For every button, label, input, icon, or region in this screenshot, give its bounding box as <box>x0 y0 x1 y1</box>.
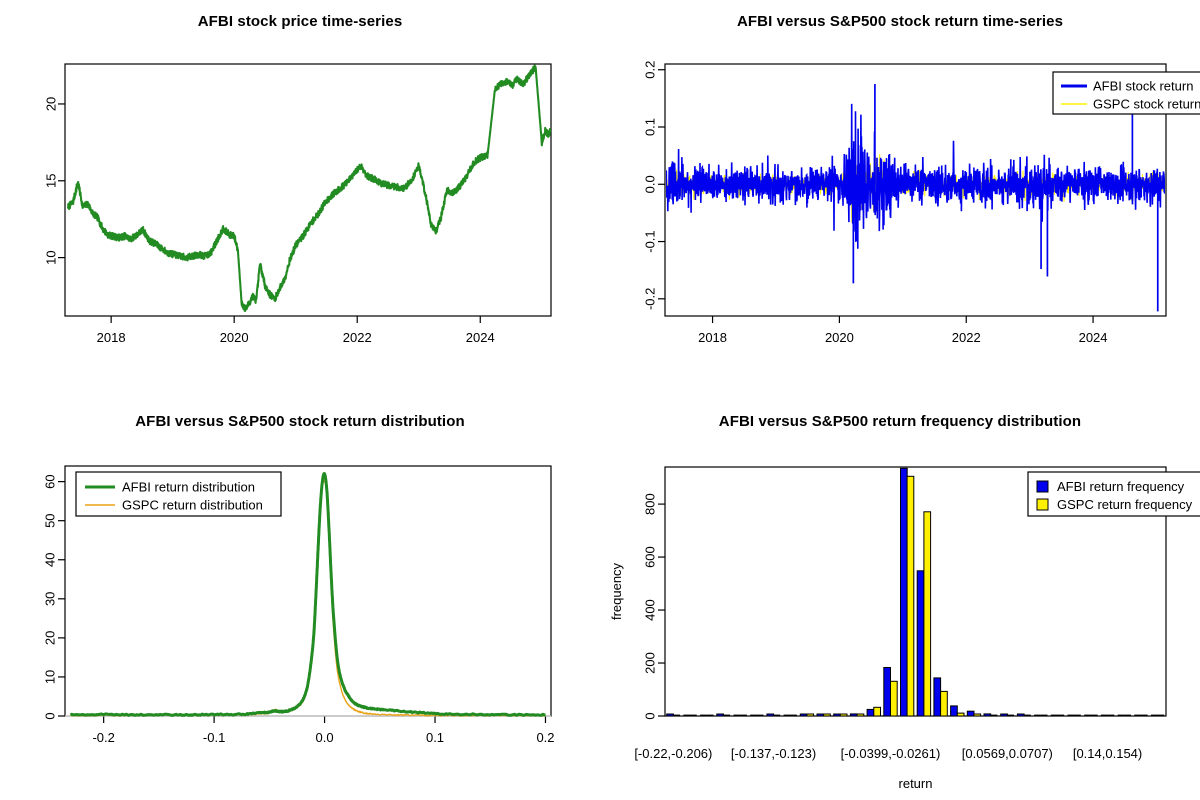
x-tick-label: [0.0569,0.0707) <box>962 746 1053 761</box>
y-tick-label: 0.0 <box>642 175 657 193</box>
x-tick-label: 2018 <box>698 330 727 345</box>
panel3-plot: 0102030405060-0.2-0.10.00.10.2AFBI retur… <box>0 400 600 800</box>
y-axis-label: frequency <box>609 562 624 620</box>
y-tick-label: 20 <box>42 631 57 645</box>
y-tick-label: 50 <box>42 513 57 527</box>
legend-label: AFBI return distribution <box>122 480 255 495</box>
legend-label: AFBI stock return <box>1093 79 1193 94</box>
y-tick-label: 40 <box>42 553 57 567</box>
gspc-bar <box>807 714 814 716</box>
x-tick-label: -0.2 <box>92 730 114 745</box>
x-tick-label: 2022 <box>952 330 981 345</box>
afbi-bar <box>717 714 724 716</box>
gspc-bar <box>1141 715 1148 716</box>
y-tick-label: 0 <box>42 712 57 719</box>
afbi-bar <box>784 715 791 716</box>
gspc-bar <box>774 715 781 716</box>
afbi-bar <box>1101 715 1108 716</box>
gspc-bar <box>740 715 747 716</box>
afbi-bar <box>1051 715 1058 716</box>
x-tick-label: -0.1 <box>203 730 225 745</box>
panel4-plot: 0200400600800frequencyreturn[-0.22,-0.20… <box>600 400 1200 800</box>
y-tick-label: 0 <box>642 712 657 719</box>
panel-return-distribution: AFBI versus S&P500 stock return distribu… <box>0 400 600 800</box>
gspc-bar <box>857 714 864 716</box>
gspc-bar <box>707 715 714 716</box>
panel-return-frequency: AFBI versus S&P500 return frequency dist… <box>600 400 1200 800</box>
x-tick-label: 2020 <box>825 330 854 345</box>
gspc-bar <box>1124 715 1131 716</box>
panel1-plot: 1015202018202020222024 <box>0 0 600 400</box>
afbi-bar <box>984 714 991 716</box>
gspc-bar <box>991 715 998 716</box>
afbi-bar <box>934 678 941 716</box>
y-tick-label: 0.2 <box>642 61 657 79</box>
x-tick-label: [-0.0399,-0.0261) <box>841 746 941 761</box>
gspc-bar <box>941 691 948 716</box>
afbi-bar <box>884 668 891 717</box>
y-tick-label: -0.2 <box>642 288 657 310</box>
legend-label: GSPC return frequency <box>1057 497 1193 512</box>
x-tick-label: 2020 <box>220 330 249 345</box>
y-tick-label: 15 <box>43 174 58 188</box>
figure-grid: AFBI stock price time-series 10152020182… <box>0 0 1200 800</box>
x-tick-label: [-0.22,-0.206) <box>634 746 712 761</box>
gspc-bar <box>924 512 931 716</box>
gspc-bar <box>673 715 680 716</box>
x-tick-label: 2018 <box>97 330 126 345</box>
y-tick-label: 10 <box>43 250 58 264</box>
y-tick-label: 0.1 <box>642 118 657 136</box>
afbi-bar <box>951 706 958 716</box>
y-tick-label: 30 <box>42 592 57 606</box>
afbi-bar <box>734 715 741 716</box>
gspc-bar <box>757 715 764 716</box>
gspc-bar <box>1074 715 1081 716</box>
gspc-bar <box>1024 715 1031 716</box>
legend-label: AFBI return frequency <box>1057 479 1185 494</box>
afbi-bar <box>1084 715 1091 716</box>
panel4-axes: 0200400600800frequencyreturn[-0.22,-0.20… <box>609 493 1142 791</box>
x-tick-label: 2024 <box>466 330 495 345</box>
afbi-bar <box>834 714 841 716</box>
panel-stock-price: AFBI stock price time-series 10152020182… <box>0 0 600 400</box>
legend-swatch <box>1037 499 1048 510</box>
gspc-bar <box>824 714 831 716</box>
y-tick-label: 800 <box>642 493 657 515</box>
afbi-bar <box>750 715 757 716</box>
gspc-bar <box>723 715 730 716</box>
y-tick-label: 200 <box>642 652 657 674</box>
y-tick-label: 20 <box>43 97 58 111</box>
x-tick-label: 0.0 <box>316 730 334 745</box>
afbi-bar <box>1001 714 1008 716</box>
x-tick-label: [-0.137,-0.123) <box>731 746 816 761</box>
afbi-bar <box>1017 714 1024 716</box>
afbi-bar <box>700 715 707 716</box>
y-tick-label: -0.1 <box>642 230 657 252</box>
afbi-bar <box>800 714 807 716</box>
afbi-bar <box>817 714 824 716</box>
afbi-bar <box>1118 715 1125 716</box>
afbi-bar <box>683 715 690 716</box>
afbi-bar <box>850 714 857 716</box>
gspc-bar <box>974 714 981 716</box>
gspc-bar <box>840 714 847 716</box>
gspc-bar <box>790 715 797 716</box>
gspc-bar <box>891 681 898 716</box>
gspc-bar <box>874 707 881 716</box>
y-tick-label: 10 <box>42 670 57 684</box>
x-tick-label: 0.1 <box>426 730 444 745</box>
panel2-plot: -0.2-0.10.00.10.22018202020222024AFBI st… <box>600 0 1200 400</box>
panel2-legend: AFBI stock returnGSPC stock return <box>1053 72 1200 114</box>
gspc-bar <box>1108 715 1115 716</box>
y-tick-label: 60 <box>42 474 57 488</box>
x-tick-label: 0.2 <box>536 730 554 745</box>
panel4-legend: AFBI return frequencyGSPC return frequen… <box>1028 472 1200 516</box>
x-tick-label: [0.14,0.154) <box>1073 746 1142 761</box>
legend-label: GSPC stock return <box>1093 97 1200 112</box>
afbi-bar <box>667 714 674 716</box>
plot-box <box>65 64 551 316</box>
panel3-legend: AFBI return distributionGSPC return dist… <box>76 472 281 516</box>
x-axis-label: return <box>899 776 933 791</box>
gspc-bar <box>1007 715 1014 716</box>
panel-return-timeseries: AFBI versus S&P500 stock return time-ser… <box>600 0 1200 400</box>
afbi-bar <box>967 711 974 716</box>
gspc-bar <box>1158 715 1165 716</box>
y-tick-label: 400 <box>642 599 657 621</box>
afbi-bar <box>1068 715 1075 716</box>
gspc-bar <box>957 713 964 716</box>
x-tick-label: 2022 <box>343 330 372 345</box>
legend-swatch <box>1037 481 1048 492</box>
gspc-bar <box>907 476 914 716</box>
y-tick-label: 600 <box>642 546 657 568</box>
afbi-bar <box>901 468 908 716</box>
x-tick-label: 2024 <box>1079 330 1108 345</box>
afbi-bar <box>1151 715 1158 716</box>
panel1-axes: 1015202018202020222024 <box>43 97 494 345</box>
afbi-bar <box>917 571 924 716</box>
afbi-bar <box>1034 715 1041 716</box>
afbi-bar <box>1134 715 1141 716</box>
afbi-bar <box>767 714 774 716</box>
price-line <box>68 66 550 311</box>
afbi-return-line <box>665 104 1166 249</box>
gspc-bar <box>1091 715 1098 716</box>
gspc-bar <box>1057 715 1064 716</box>
legend-label: GSPC return distribution <box>122 498 263 513</box>
gspc-bar <box>1041 715 1048 716</box>
afbi-bar <box>867 709 874 716</box>
gspc-bar <box>690 715 697 716</box>
return-series <box>665 84 1166 311</box>
